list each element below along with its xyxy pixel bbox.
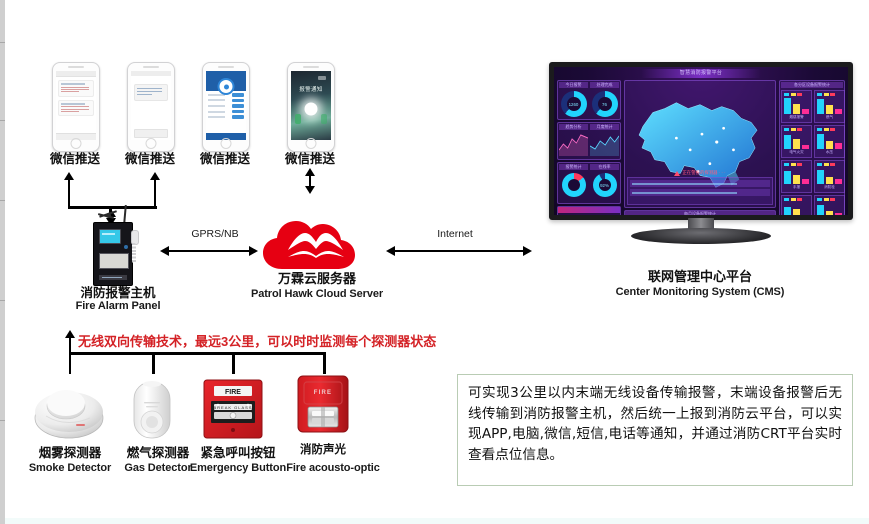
device-kpi-grid: 各分区设备报警统计 烟感报警 燃气 电气火灾	[779, 80, 845, 215]
fire-alarm-panel[interactable]	[93, 222, 139, 284]
mcp-label-en: Emergency Button	[180, 462, 296, 475]
phone-label-2: 微信推送	[107, 152, 193, 166]
device-bus	[69, 352, 326, 355]
bottom-band	[5, 518, 869, 524]
panel-handset	[129, 230, 138, 264]
arrow-right-gprs	[249, 246, 258, 256]
drop-sounder	[323, 352, 326, 374]
phone-screen	[206, 71, 246, 140]
mcp-label-cn: 紧急呼叫按钮	[186, 446, 290, 460]
arrow-banner-up	[65, 330, 75, 338]
diagram-canvas: 微信推送 微信推送 微信推送 报警通知	[0, 0, 869, 524]
cloud-server-logo[interactable]	[258, 212, 376, 274]
phone-label-4: 微信推送	[267, 152, 353, 166]
kpi-rings: 报警统计 在线率 92%	[557, 162, 621, 204]
dashboard: 智慧消防报警平台 今日报警1260 处理完成76 趋势分析	[554, 67, 848, 215]
fire-sounder[interactable]: FIRE	[295, 374, 351, 436]
phone-screen: 报警通知	[291, 71, 331, 140]
panel-label-cn: 消防报警主机	[62, 286, 174, 300]
line-phone-1	[68, 180, 71, 208]
panel-lcd	[99, 229, 121, 244]
phone-screen	[131, 71, 171, 140]
smoke-detector[interactable]	[32, 382, 106, 440]
phone-speaker	[303, 66, 319, 68]
phone-app-blue[interactable]	[202, 62, 250, 152]
phone-wechat-chat[interactable]	[127, 62, 175, 152]
link-label-internet: Internet	[400, 228, 510, 240]
drop-gas	[152, 352, 155, 374]
monitor-bezel: 智慧消防报警平台 今日报警1260 处理完成76 趋势分析	[549, 62, 853, 220]
line-phone-2	[154, 180, 157, 208]
arrow-right-internet	[523, 246, 532, 256]
cms-monitor[interactable]: 智慧消防报警平台 今日报警1260 处理完成76 趋势分析	[549, 62, 853, 242]
panel-paper-slot	[99, 253, 129, 269]
panel-led	[124, 245, 128, 249]
dashboard-right-column: 各分区设备报警统计 烟感报警 燃气 电气火灾	[779, 80, 845, 213]
cms-label-en: Center Monitoring System (CMS)	[600, 286, 800, 299]
left-scroll-strip[interactable]	[0, 0, 5, 524]
line-internet	[394, 250, 526, 253]
cloud-label-cn: 万霖云服务器	[250, 272, 384, 287]
map-alert-bar: 正在警报的探测器 · · ·	[627, 169, 773, 177]
phone-speaker	[218, 66, 234, 68]
wireless-banner: 无线双向传输技术，最远3公里，可以时时监测每个探测器状态	[78, 331, 436, 350]
map-alert-text: 正在警报的探测器 · · ·	[682, 170, 725, 176]
arrow-to-phone-2	[150, 172, 160, 180]
panel-label-en: Fire Alarm Panel	[62, 300, 174, 313]
dashboard-title: 智慧消防报警平台	[641, 69, 761, 78]
arrow-down-phone-4	[305, 186, 315, 194]
china-map: 正在警报的探测器 · · ·	[624, 80, 776, 208]
dashboard-center-column: 正在警报的探测器 · · · 每月设备报警统计	[624, 80, 776, 213]
description-text: 可实现3公里以内末端无线设备传输报警，末端设备报警后无线传输到消防报警主机，然后…	[468, 383, 842, 466]
emergency-button[interactable]: FIRE BREAK GLASS	[202, 378, 264, 440]
drop-smoke	[69, 352, 72, 374]
log-panel-left	[557, 206, 621, 215]
dashboard-title-text: 智慧消防报警平台	[641, 69, 761, 78]
bar-chart-panel: 每月设备报警统计	[624, 210, 776, 215]
line-banner	[69, 338, 72, 352]
panel-body	[93, 222, 133, 286]
kpi-donuts: 今日报警1260 处理完成76	[557, 80, 621, 120]
dashboard-left-column: 今日报警1260 处理完成76 趋势分析 月度统计	[557, 80, 621, 213]
svg-text:FIRE: FIRE	[314, 390, 332, 396]
sounder-label-cn: 消防声光	[292, 444, 354, 457]
svg-text:BREAK GLASS: BREAK GLASS	[213, 405, 252, 410]
phone-speaker	[68, 66, 84, 68]
phone-wechat-list[interactable]	[52, 62, 100, 152]
kpi-sparklines: 趋势分析 月度统计	[557, 122, 621, 160]
monitor-base	[631, 228, 771, 244]
svg-text:FIRE: FIRE	[225, 389, 241, 396]
monitor-screen: 智慧消防报警平台 今日报警1260 处理完成76 趋势分析	[554, 67, 848, 215]
arrow-up-phone-4	[305, 168, 315, 176]
phone-home-button	[221, 138, 232, 149]
link-label-gprs: GPRS/NB	[160, 228, 270, 240]
line-gprs	[168, 250, 252, 253]
smoke-label-cn: 烟雾探测器	[22, 446, 118, 460]
phone-home-button	[71, 138, 82, 149]
phone-home-button	[306, 138, 317, 149]
gas-detector[interactable]	[126, 378, 178, 442]
phone-speaker	[143, 66, 159, 68]
panel-label-strip	[99, 275, 127, 280]
arrow-to-phone-1	[64, 172, 74, 180]
phone-lockscreen[interactable]: 报警通知	[287, 62, 335, 152]
phone-label-1: 微信推送	[32, 152, 118, 166]
phone-screen	[56, 71, 96, 140]
sounder-label-en: Fire acousto-optic	[284, 462, 382, 475]
drop-mcp	[232, 352, 235, 374]
cms-label-cn: 联网管理中心平台	[600, 270, 800, 285]
map-ticker	[627, 177, 773, 205]
phone-home-button	[146, 138, 157, 149]
description-box: 可实现3公里以内末端无线设备传输报警，末端设备报警后无线传输到消防报警主机，然后…	[457, 374, 853, 486]
cloud-label-en: Patrol Hawk Cloud Server	[244, 288, 390, 301]
phone-label-3: 微信推送	[182, 152, 268, 166]
